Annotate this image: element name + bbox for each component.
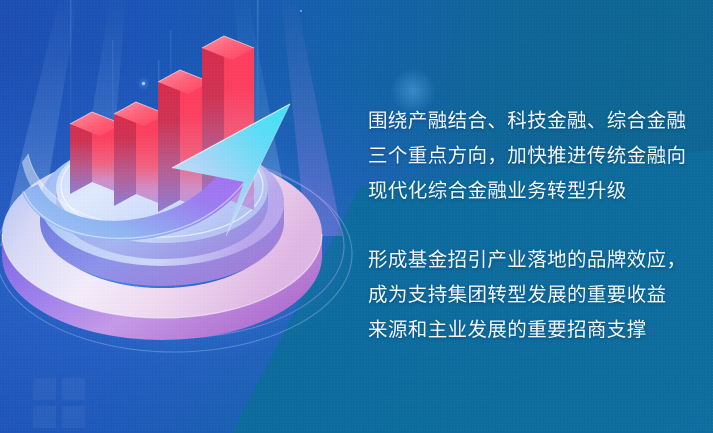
- slide-canvas: 围绕产融结合、科技金融、综合金融 三个重点方向，加快推进传统金融向 现代化综合金…: [0, 0, 713, 433]
- paragraph-1-line-1: 围绕产融结合、科技金融、综合金融: [368, 104, 698, 139]
- paragraph-1-line-3: 现代化综合金融业务转型升级: [368, 174, 698, 209]
- growth-chart-illustration: [0, 96, 356, 358]
- text-content: 围绕产融结合、科技金融、综合金融 三个重点方向，加快推进传统金融向 现代化综合金…: [368, 104, 698, 348]
- paragraph-1-line-2: 三个重点方向，加快推进传统金融向: [368, 139, 698, 174]
- paragraph-2: 形成基金招引产业落地的品牌效应， 成为支持集团转型发展的重要收益 来源和主业发展…: [368, 243, 698, 348]
- paragraph-2-line-3: 来源和主业发展的重要招商支撑: [368, 313, 698, 348]
- paragraph-2-line-2: 成为支持集团转型发展的重要收益: [368, 278, 698, 313]
- glow-dot-icon: [300, 10, 302, 12]
- paragraph-2-line-1: 形成基金招引产业落地的品牌效应，: [368, 243, 698, 278]
- glow-dot-icon: [142, 82, 145, 85]
- grid-watermark-icon: [33, 378, 87, 430]
- paragraph-1: 围绕产融结合、科技金融、综合金融 三个重点方向，加快推进传统金融向 现代化综合金…: [368, 104, 698, 209]
